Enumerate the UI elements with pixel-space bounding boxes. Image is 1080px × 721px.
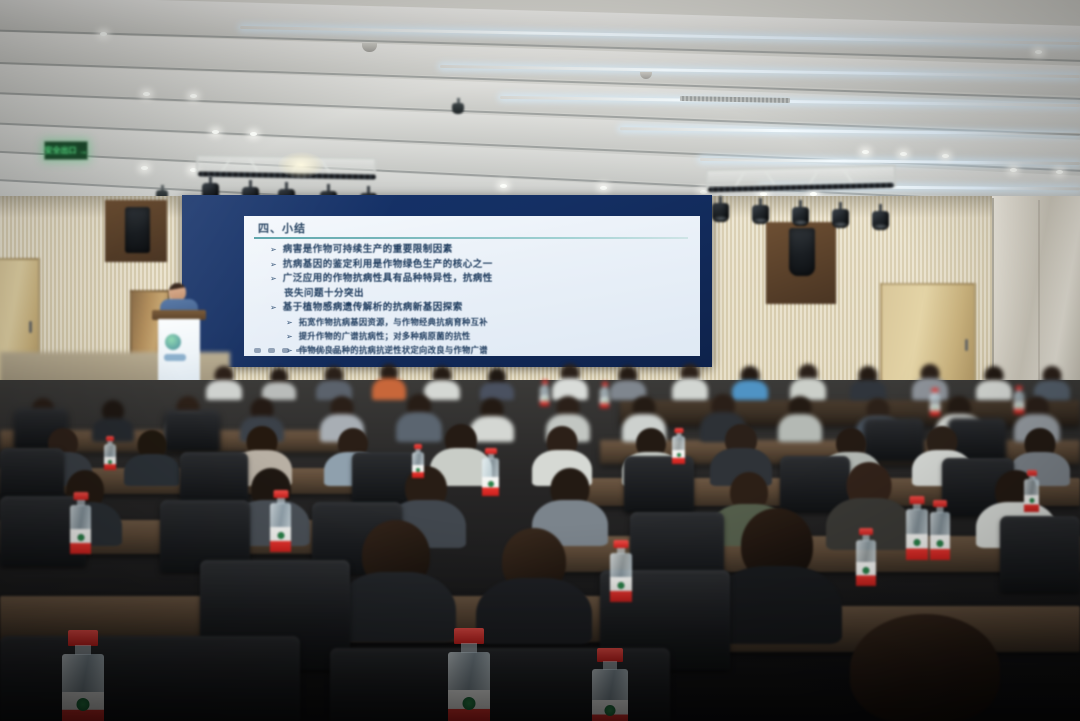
pen-icon[interactable]	[282, 348, 289, 353]
slide-bullet-list: ➢ 病害是作物可持续生产的重要限制因素 ➢ 抗病基因的鉴定利用是作物绿色生产的核…	[270, 244, 690, 356]
water-bottle[interactable]	[930, 388, 940, 416]
water-bottle[interactable]	[482, 448, 499, 496]
wall-speaker-left	[125, 207, 150, 253]
bullet-marker-icon: ➢	[270, 244, 277, 255]
attendee	[778, 396, 822, 442]
conference-hall-photo: 安全出口 →	[0, 0, 1080, 721]
water-bottle[interactable]	[540, 380, 549, 406]
water-bottle[interactable]	[856, 528, 876, 586]
truss-lens-flare	[278, 152, 324, 178]
spotlight	[712, 196, 729, 222]
water-bottle[interactable]	[270, 490, 291, 552]
bullet-text: 基于植物感病遗传解析的抗病新基因探索	[283, 302, 463, 314]
downlight	[212, 130, 219, 134]
bullet-text: 病害是作物可持续生产的重要限制因素	[283, 244, 453, 256]
chair	[1000, 516, 1080, 592]
downlight	[1010, 168, 1017, 172]
slide-title-rule	[254, 237, 688, 239]
water-bottle[interactable]	[610, 540, 632, 602]
downlight	[1056, 170, 1063, 174]
water-bottle-foreground[interactable]	[448, 628, 490, 721]
more-options-icon[interactable]	[332, 348, 339, 353]
water-bottle[interactable]	[104, 436, 116, 470]
exit-sign-label: 安全出口	[45, 147, 77, 155]
bullet-text: 提升作物的广谱抗病性；对多种病原菌的抗性	[299, 331, 471, 342]
bullet-text: 广泛应用的作物抗病性具有品种特异性，抗病性	[283, 273, 493, 285]
downlight	[500, 184, 507, 188]
bullet-marker-icon: ➢	[270, 273, 277, 284]
bullet-text: 丧失问题十分突出	[284, 288, 364, 300]
water-bottle[interactable]	[412, 444, 424, 478]
downlight	[862, 150, 869, 154]
presentation-slide: 四、小结 ➢ 病害是作物可持续生产的重要限制因素 ➢ 抗病基因的鉴定利用是作物绿…	[244, 216, 700, 356]
slide-bullet: ➢ 抗病基因的鉴定利用是作物绿色生产的核心之一	[270, 259, 690, 271]
spotlight	[752, 198, 769, 224]
bullet-marker-icon: ➢	[286, 317, 293, 328]
slide-bullet: ➢ 广泛应用的作物抗病性具有品种特异性，抗病性	[270, 273, 690, 285]
podium-logo-text	[164, 354, 186, 361]
attendee	[552, 364, 588, 400]
downlight	[600, 186, 607, 190]
attendee	[316, 366, 352, 400]
slide-bullet-continuation: 丧失问题十分突出	[284, 288, 690, 300]
attendee	[124, 430, 180, 486]
water-bottle[interactable]	[70, 492, 91, 554]
slide-bullet: ➢ 病害是作物可持续生产的重要限制因素	[270, 244, 690, 256]
presentation-control-bar[interactable]	[254, 348, 339, 353]
downlight	[900, 152, 907, 156]
spotlight	[792, 200, 809, 226]
attendee	[262, 368, 296, 400]
slide-sub-bullet: ➢ 作物优良品种的抗病抗逆性状定向改良与作物广谱	[286, 345, 690, 356]
attendee	[480, 368, 514, 400]
bullet-text: 抗病基因的鉴定利用是作物绿色生产的核心之一	[283, 259, 493, 271]
attendee	[976, 366, 1012, 400]
exit-sign: 安全出口 →	[44, 141, 88, 160]
water-bottle[interactable]	[600, 382, 609, 408]
water-bottle[interactable]	[906, 496, 928, 560]
attendee-foreground	[712, 508, 842, 644]
attendee	[1034, 366, 1070, 400]
water-bottle-foreground[interactable]	[62, 630, 104, 721]
slide-sub-bullet: ➢ 拓宽作物抗病基因资源，与作物经典抗病育种互补	[286, 317, 690, 328]
slide-title: 四、小结	[258, 220, 306, 236]
attendee-foreground	[336, 520, 456, 642]
downlight	[141, 166, 148, 170]
previous-slide-icon[interactable]	[254, 348, 261, 353]
projection-screen[interactable]: 四、小结 ➢ 病害是作物可持续生产的重要限制因素 ➢ 抗病基因的鉴定利用是作物绿…	[182, 195, 712, 367]
zoom-icon[interactable]	[314, 349, 325, 352]
bullet-marker-icon: ➢	[270, 302, 277, 313]
water-bottle[interactable]	[1014, 386, 1024, 414]
attendee	[610, 366, 646, 400]
attendee	[790, 364, 826, 400]
downlight	[100, 32, 107, 36]
water-bottle[interactable]	[930, 500, 950, 560]
spotlight	[832, 202, 849, 228]
downlight	[250, 132, 257, 136]
slide-menu-icon[interactable]	[296, 349, 307, 352]
water-bottle[interactable]	[1024, 470, 1039, 512]
bullet-marker-icon: ➢	[286, 331, 293, 342]
security-camera-icon	[452, 98, 464, 114]
slide-sub-bullet: ➢ 提升作物的广谱抗病性；对多种病原菌的抗性	[286, 331, 690, 342]
speaker-podium	[158, 310, 200, 384]
exit-sign-arrow-icon: →	[79, 146, 88, 156]
chair	[624, 456, 694, 512]
downlight	[143, 92, 150, 96]
slide-bullet: ➢ 基于植物感病遗传解析的抗病新基因探索	[270, 302, 690, 314]
attendee	[206, 366, 242, 400]
downlight	[1035, 50, 1042, 54]
bullet-text: 拓宽作物抗病基因资源，与作物经典抗病育种互补	[299, 317, 488, 328]
spotlight	[872, 204, 889, 230]
podium-logo	[165, 334, 181, 350]
downlight	[942, 154, 949, 158]
water-bottle-foreground[interactable]	[592, 648, 628, 721]
desk-row	[620, 400, 1080, 426]
attendee-foreground	[476, 528, 592, 644]
chair-foreground	[0, 636, 300, 721]
downlight	[190, 94, 197, 98]
wall-speaker-right	[789, 228, 815, 276]
ceiling: 安全出口 →	[0, 0, 1080, 212]
attendee	[850, 366, 886, 400]
next-slide-icon[interactable]	[268, 348, 275, 353]
bullet-marker-icon: ➢	[270, 259, 277, 270]
attendee-closest	[830, 614, 1020, 721]
water-bottle[interactable]	[672, 428, 685, 464]
